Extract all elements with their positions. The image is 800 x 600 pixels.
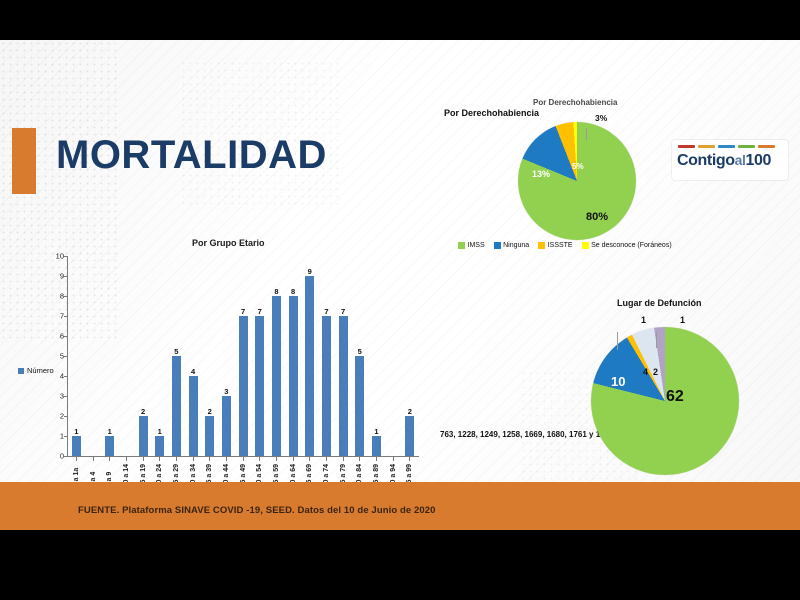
screenshot-stage: MORTALIDAD Contigoal100 Por Derechohabie…	[0, 0, 800, 600]
legend-swatch	[458, 242, 465, 249]
bar-column: 2	[401, 256, 418, 456]
bar-column: 5	[168, 256, 185, 456]
x-tick-mark	[101, 456, 118, 462]
legend-label: Se desconoce (Foráneos)	[591, 242, 672, 249]
bar-column: 1	[68, 256, 85, 456]
bar	[172, 356, 181, 456]
legend-item: Se desconoce (Foráneos)	[582, 242, 672, 249]
x-tick-mark	[285, 456, 302, 462]
bar	[305, 276, 314, 456]
logo-text-100: 100	[746, 152, 772, 169]
x-tick-mark	[68, 456, 85, 462]
bar	[405, 416, 414, 456]
bar-value-label: 2	[208, 408, 212, 416]
bar-column: 2	[135, 256, 152, 456]
legend-label: Ninguna	[503, 242, 529, 249]
bar-value-label: 7	[324, 308, 328, 316]
bar-column: 8	[268, 256, 285, 456]
x-tick-mark	[168, 456, 185, 462]
x-tick-mark	[301, 456, 318, 462]
x-tick-mark	[251, 456, 268, 462]
page-title: MORTALIDAD	[56, 135, 327, 175]
x-tick-mark	[351, 456, 368, 462]
bar-series: 112154237788977512	[68, 256, 418, 456]
x-tick-mark	[385, 456, 402, 462]
bar	[289, 296, 298, 456]
x-tick-mark	[151, 456, 168, 462]
bar-column: 5	[351, 256, 368, 456]
bar-column: 1	[151, 256, 168, 456]
x-tick-mark	[201, 456, 218, 462]
bar	[139, 416, 148, 456]
pie2-value-clinica: 1	[680, 316, 685, 325]
y-tick-label: 10	[56, 252, 64, 261]
bar-column: 1	[368, 256, 385, 456]
bar-chart-plot-area: 012345678910 112154237788977512	[68, 256, 418, 456]
legend-item: Ninguna	[494, 242, 530, 249]
bar-chart-grupo-etario: Por Grupo Etario Número 012345678910 112…	[10, 238, 450, 508]
bar	[272, 296, 281, 456]
bar-value-label: 5	[358, 348, 362, 356]
bar-column: 3	[218, 256, 235, 456]
legend-swatch	[582, 242, 589, 249]
bar-column: 7	[235, 256, 252, 456]
pie1-title: Por Derechohabiencia	[444, 108, 539, 118]
bar-value-label: 7	[241, 308, 245, 316]
bar-value-label: 1	[158, 428, 162, 436]
bar-value-label: 1	[108, 428, 112, 436]
bar-value-label: 2	[408, 408, 412, 416]
pie2-value-imss: 62	[666, 389, 684, 405]
bar-column: 9	[301, 256, 318, 456]
bar	[205, 416, 214, 456]
x-tick-mark	[185, 456, 202, 462]
bar-value-label: 8	[274, 288, 278, 296]
bar	[105, 436, 114, 456]
pie1-leader-line	[586, 128, 587, 140]
legend-swatch-numero	[18, 368, 24, 374]
bar-value-label: 1	[74, 428, 78, 436]
pie1-value-desconoce: 3%	[595, 114, 607, 123]
bar	[222, 396, 231, 456]
bar-column	[85, 256, 102, 456]
pie2-value-domicilio: 2	[653, 368, 658, 377]
bar-chart-legend: Número	[18, 366, 54, 375]
pie1-value-imss: 80%	[586, 212, 608, 223]
pie1-graphic	[518, 122, 636, 240]
bar-value-label: 8	[291, 288, 295, 296]
title-accent-bar	[12, 128, 36, 194]
bar-column: 4	[185, 256, 202, 456]
pie2-value-chmh: 10	[611, 375, 625, 388]
x-tick-mark	[218, 456, 235, 462]
bar-value-label: 1	[374, 428, 378, 436]
bar	[322, 316, 331, 456]
bar	[339, 316, 348, 456]
footer-source-text: FUENTE. Plataforma SINAVE COVID -19, SEE…	[78, 505, 678, 516]
x-tick-mark	[368, 456, 385, 462]
pie2-graphic	[591, 327, 739, 475]
pie2-value-hgtm: 1	[641, 316, 646, 325]
slide-canvas: MORTALIDAD Contigoal100 Por Derechohabie…	[0, 40, 800, 530]
bar-column: 1	[101, 256, 118, 456]
bar-column: 2	[201, 256, 218, 456]
x-tick-mark	[318, 456, 335, 462]
bar-value-label: 4	[191, 368, 195, 376]
bar-value-label: 7	[341, 308, 345, 316]
bar	[239, 316, 248, 456]
bar	[72, 436, 81, 456]
bar-value-label: 2	[141, 408, 145, 416]
x-axis-ticks	[68, 456, 418, 462]
legend-label-numero: Número	[27, 366, 54, 375]
bar	[255, 316, 264, 456]
legend-label: IMSS	[468, 242, 485, 249]
bar-column	[118, 256, 135, 456]
bar	[355, 356, 364, 456]
bar-value-label: 3	[224, 388, 228, 396]
pie2-leader-line-clinica	[656, 332, 657, 348]
pie1-value-issste: 5%	[572, 163, 584, 171]
pie1-value-ninguna: 13%	[532, 170, 550, 179]
bar-value-label: 5	[174, 348, 178, 356]
pie-chart-derechohabiencia: Por Derechohabiencia 80% 13% 5% 3% IMSSN…	[440, 100, 730, 260]
legend-item: ISSSTE	[538, 242, 572, 249]
bar-chart-title: Por Grupo Etario	[192, 238, 265, 248]
bar	[155, 436, 164, 456]
legend-label: ISSSTE	[548, 242, 573, 249]
x-tick-mark	[85, 456, 102, 462]
legend-item: IMSS	[458, 242, 485, 249]
bar-value-label: 9	[308, 268, 312, 276]
x-tick-mark	[135, 456, 152, 462]
pie2-value-hgissste: 4	[643, 368, 648, 377]
x-tick-mark	[235, 456, 252, 462]
pie-chart-lugar-defuncion: Lugar de Defunción 62 10 1 4 2 1 IMSSCHM…	[545, 295, 800, 510]
x-tick-mark	[268, 456, 285, 462]
bar-column: 7	[335, 256, 352, 456]
legend-swatch	[494, 242, 501, 249]
legend-swatch	[538, 242, 545, 249]
x-tick-mark	[401, 456, 418, 462]
bar	[372, 436, 381, 456]
bar-value-label: 7	[258, 308, 262, 316]
pie2-title: Lugar de Defunción	[617, 298, 702, 308]
bar-column	[385, 256, 402, 456]
pie2-leader-line-hgtm	[617, 332, 618, 350]
pie1-legend: IMSSNingunaISSSTESe desconoce (Foráneos)	[458, 242, 681, 249]
x-tick-mark	[335, 456, 352, 462]
bar-column: 8	[285, 256, 302, 456]
x-tick-mark	[118, 456, 135, 462]
bar	[189, 376, 198, 456]
logo-text-al: al	[735, 152, 746, 168]
bar-column: 7	[318, 256, 335, 456]
bar-column: 7	[251, 256, 268, 456]
